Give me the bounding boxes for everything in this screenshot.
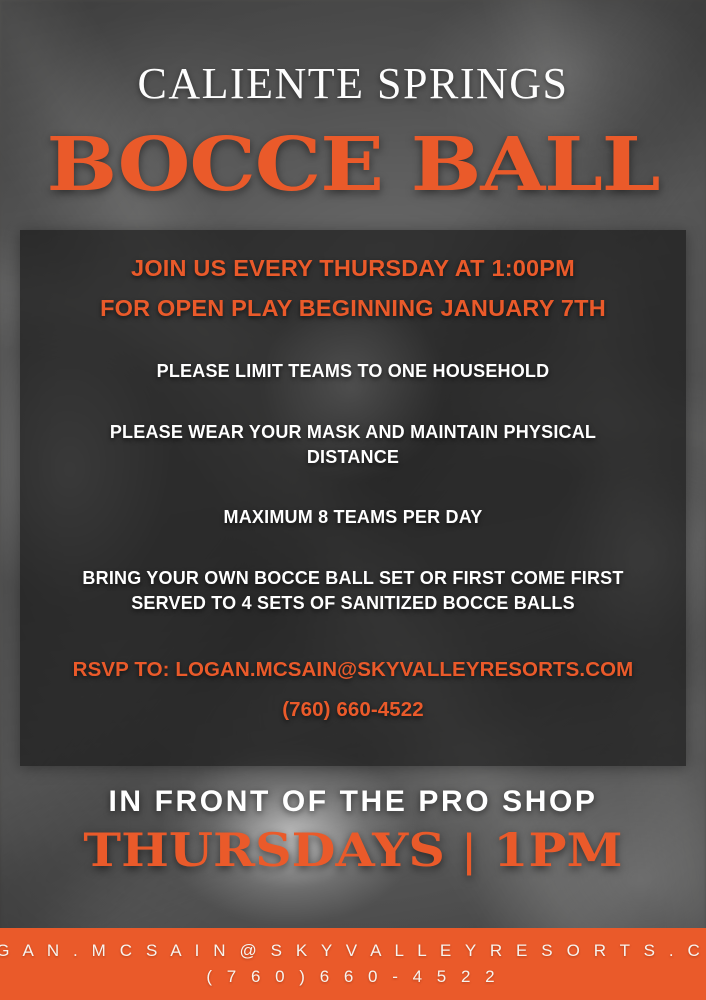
callout-day: THURSDAYS [83, 823, 444, 877]
spacer [42, 284, 664, 292]
footer-email[interactable]: L O G A N . M C S A I N @ S K Y V A L L … [0, 938, 706, 964]
spacer [42, 384, 664, 420]
detail-line-mask-2: DISTANCE [42, 445, 664, 470]
detail-line-household: PLEASE LIMIT TEAMS TO ONE HOUSEHOLD [42, 359, 664, 384]
detail-line-schedule-2: FOR OPEN PLAY BEGINNING JANUARY 7TH [42, 292, 664, 324]
spacer [42, 616, 664, 656]
contact-footer: L O G A N . M C S A I N @ S K Y V A L L … [0, 928, 706, 1000]
details-panel-content: JOIN US EVERY THURSDAY AT 1:00PM FOR OPE… [20, 230, 686, 724]
spacer [42, 469, 664, 505]
callout-separator: | [463, 824, 476, 876]
spacer [42, 684, 664, 696]
detail-line-equipment-2: SERVED TO 4 SETS OF SANITIZED BOCCE BALL… [42, 591, 664, 616]
details-panel: JOIN US EVERY THURSDAY AT 1:00PM FOR OPE… [20, 230, 686, 766]
kicker-title: CALIENTE SPRINGS [0, 62, 706, 106]
spacer [42, 325, 664, 359]
footer-phone[interactable]: ( 7 6 0 ) 6 6 0 - 4 5 2 2 [206, 964, 499, 990]
callout-location: IN FRONT OF THE PRO SHOP [0, 786, 706, 818]
detail-line-max-teams: MAXIMUM 8 TEAMS PER DAY [42, 505, 664, 530]
page-title: BOCCE BALL [0, 128, 706, 202]
detail-line-mask-1: PLEASE WEAR YOUR MASK AND MAINTAIN PHYSI… [42, 420, 664, 445]
detail-line-schedule-1: JOIN US EVERY THURSDAY AT 1:00PM [42, 252, 664, 284]
location-callout: IN FRONT OF THE PRO SHOP THURSDAYS | 1PM [0, 786, 706, 874]
poster-canvas: CALIENTE SPRINGS BOCCE BALL JOIN US EVER… [0, 0, 706, 1000]
rsvp-email[interactable]: RSVP TO: LOGAN.MCSAIN@SKYVALLEYRESORTS.C… [42, 656, 664, 684]
detail-line-equipment-1: BRING YOUR OWN BOCCE BALL SET OR FIRST C… [42, 566, 664, 591]
callout-day-time: THURSDAYS | 1PM [0, 826, 706, 874]
spacer [42, 530, 664, 566]
callout-time: 1PM [493, 823, 622, 877]
rsvp-phone[interactable]: (760) 660-4522 [42, 696, 664, 724]
poster-header: CALIENTE SPRINGS BOCCE BALL [0, 0, 706, 202]
